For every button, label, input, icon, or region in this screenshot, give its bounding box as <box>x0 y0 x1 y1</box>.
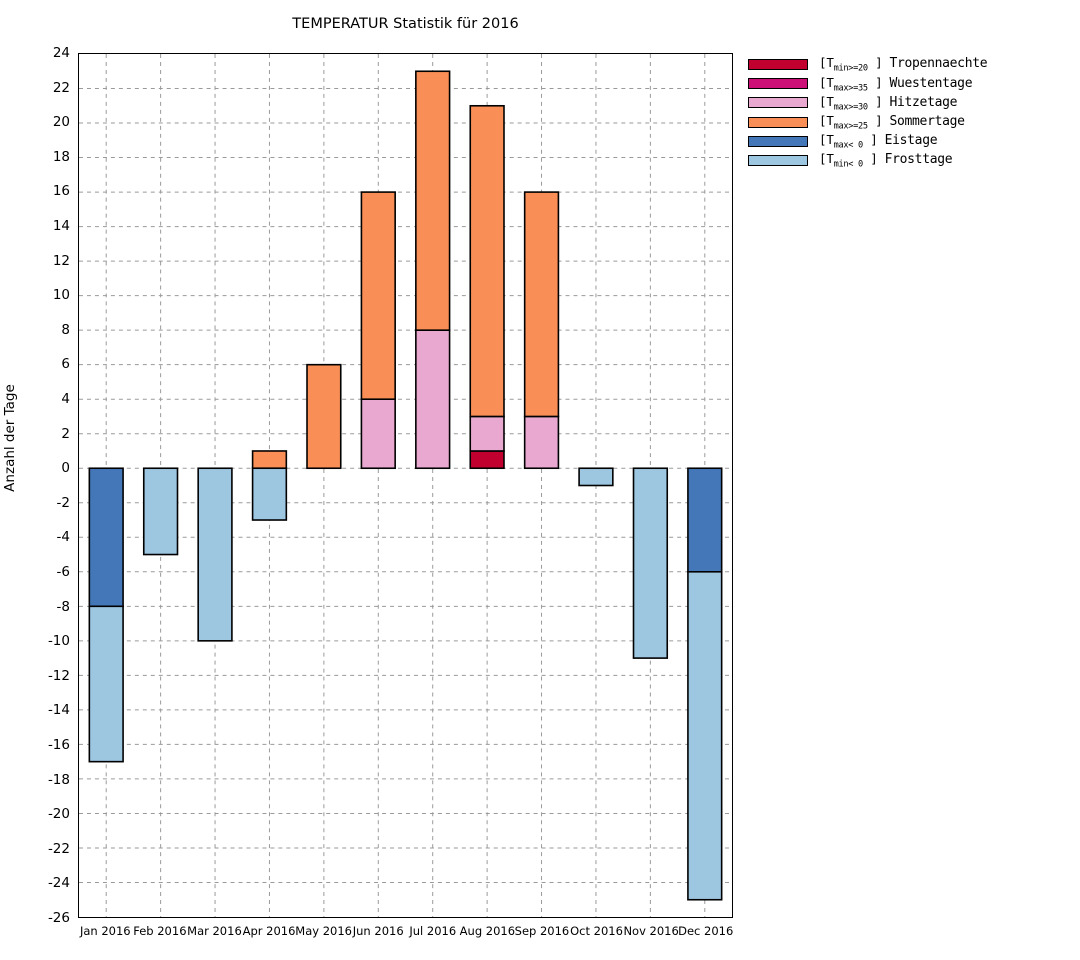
y-tick-label: -4 <box>10 529 70 545</box>
bar-segment <box>307 365 341 469</box>
y-tick-label: -16 <box>10 737 70 753</box>
x-tick-label: Apr 2016 <box>243 924 296 938</box>
y-tick-label: -22 <box>10 841 70 857</box>
legend-condition: [Tmax< 0 ] <box>819 132 878 147</box>
legend-series-name: Frosttage <box>885 152 953 167</box>
chart-title: TEMPERATUR Statistik für 2016 <box>78 16 733 32</box>
legend-label: [Tmax>=30 ]Hitzetage <box>819 94 957 113</box>
legend-swatch <box>748 136 808 147</box>
legend-condition: [Tmin< 0 ] <box>819 151 878 166</box>
legend-item[interactable]: [Tmax>=35 ]Wuestentage <box>748 74 1048 93</box>
legend-swatch <box>748 117 808 128</box>
legend-label: [Tmax>=25 ]Sommertage <box>819 113 965 132</box>
bar-segment <box>688 468 722 572</box>
y-tick-label: -24 <box>10 875 70 891</box>
legend-swatch <box>748 155 808 166</box>
bar-segment <box>579 468 613 485</box>
legend-item[interactable]: [Tmax>=25 ]Sommertage <box>748 113 1048 132</box>
legend-series-name: Hitzetage <box>889 95 957 110</box>
x-tick-label: May 2016 <box>295 924 352 938</box>
legend-label: [Tmax< 0 ]Eistage <box>819 132 937 151</box>
chart-legend: [Tmin>=20 ]Tropennaechte[Tmax>=35 ]Wuest… <box>748 55 1048 170</box>
y-tick-label: 20 <box>10 114 70 130</box>
legend-item[interactable]: [Tmax>=30 ]Hitzetage <box>748 93 1048 112</box>
x-tick-label: Mar 2016 <box>187 924 242 938</box>
y-tick-label: -20 <box>10 806 70 822</box>
bar-segment <box>361 192 395 399</box>
y-tick-label: -8 <box>10 599 70 615</box>
legend-label: [Tmin< 0 ]Frosttage <box>819 151 952 170</box>
y-tick-label: 18 <box>10 149 70 165</box>
bar-segment <box>688 572 722 900</box>
legend-swatch <box>748 59 808 70</box>
y-tick-label: 10 <box>10 287 70 303</box>
x-tick-label: Jan 2016 <box>80 924 131 938</box>
x-axis-ticks: Jan 2016Feb 2016Mar 2016Apr 2016May 2016… <box>78 924 733 948</box>
bar-series-group <box>79 54 732 917</box>
bar-segment <box>253 468 287 520</box>
bar-segment <box>525 416 559 468</box>
legend-series-name: Sommertage <box>889 114 964 129</box>
x-tick-label: Sep 2016 <box>515 924 570 938</box>
bar-segment <box>416 330 450 468</box>
y-tick-label: -6 <box>10 564 70 580</box>
bar-segment <box>470 106 504 417</box>
legend-condition: [Tmax>=35 ] <box>819 75 882 90</box>
legend-item[interactable]: [Tmax< 0 ]Eistage <box>748 132 1048 151</box>
chart-figure: TEMPERATUR Statistik für 2016 Anzahl der… <box>0 0 1080 960</box>
legend-label: [Tmin>=20 ]Tropennaechte <box>819 55 987 74</box>
bar-segment <box>470 451 504 468</box>
y-tick-label: 12 <box>10 253 70 269</box>
x-tick-label: Feb 2016 <box>133 924 186 938</box>
legend-swatch <box>748 97 808 108</box>
y-tick-label: 14 <box>10 218 70 234</box>
x-tick-label: Jun 2016 <box>353 924 404 938</box>
legend-series-name: Tropennaechte <box>889 56 987 71</box>
x-tick-label: Aug 2016 <box>460 924 515 938</box>
y-tick-label: 6 <box>10 356 70 372</box>
bar-segment <box>89 468 123 606</box>
legend-swatch <box>748 78 808 89</box>
y-tick-label: -18 <box>10 772 70 788</box>
legend-condition: [Tmax>=30 ] <box>819 94 882 109</box>
legend-item[interactable]: [Tmin>=20 ]Tropennaechte <box>748 55 1048 74</box>
y-tick-label: -10 <box>10 633 70 649</box>
bar-segment <box>144 468 178 554</box>
bar-segment <box>89 606 123 761</box>
y-tick-label: 24 <box>10 45 70 61</box>
y-tick-label: -2 <box>10 495 70 511</box>
y-tick-label: -14 <box>10 702 70 718</box>
legend-condition: [Tmin>=20 ] <box>819 55 882 70</box>
legend-condition: [Tmax>=25 ] <box>819 113 882 128</box>
bar-segment <box>416 71 450 330</box>
legend-item[interactable]: [Tmin< 0 ]Frosttage <box>748 151 1048 170</box>
bar-segment <box>253 451 287 468</box>
y-tick-label: 4 <box>10 391 70 407</box>
y-tick-label: 22 <box>10 80 70 96</box>
x-tick-label: Nov 2016 <box>623 924 678 938</box>
y-tick-label: 8 <box>10 322 70 338</box>
y-tick-label: 0 <box>10 460 70 476</box>
y-tick-label: 2 <box>10 426 70 442</box>
bar-segment <box>361 399 395 468</box>
bar-segment <box>525 192 559 416</box>
legend-label: [Tmax>=35 ]Wuestentage <box>819 75 972 94</box>
bar-segment <box>470 416 504 451</box>
bar-segment <box>198 468 232 641</box>
y-axis-ticks: 242220181614121086420-2-4-6-8-10-12-14-1… <box>8 53 70 918</box>
y-tick-label: 16 <box>10 183 70 199</box>
plot-area <box>78 53 733 918</box>
bar-segment <box>634 468 668 658</box>
legend-series-name: Wuestentage <box>889 76 972 91</box>
x-tick-label: Dec 2016 <box>678 924 733 938</box>
x-tick-label: Jul 2016 <box>409 924 456 938</box>
y-tick-label: -26 <box>10 910 70 926</box>
y-tick-label: -12 <box>10 668 70 684</box>
x-tick-label: Oct 2016 <box>570 924 623 938</box>
legend-series-name: Eistage <box>885 133 938 148</box>
